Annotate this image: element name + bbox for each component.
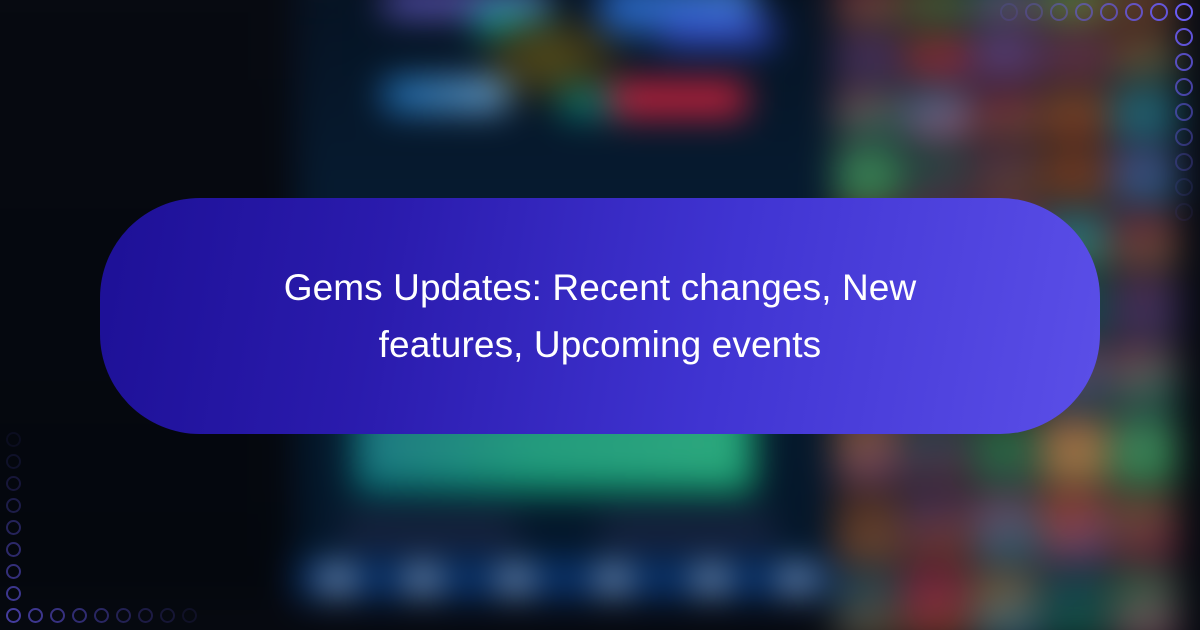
decor-dot (6, 564, 21, 579)
background-nav-icon (409, 567, 436, 592)
background-thumbnail (835, 148, 901, 203)
background-thumbnail (1111, 493, 1177, 563)
decor-dot (94, 608, 109, 623)
background-thumbnail (904, 32, 970, 80)
poster-canvas: Gems Updates: Recent changes, New featur… (0, 0, 1200, 630)
decor-dot (1050, 3, 1068, 21)
background-thumbnail (835, 0, 901, 24)
decor-dot (1175, 153, 1193, 171)
page-title: Gems Updates: Recent changes, New featur… (284, 259, 917, 373)
background-nav-icon (600, 567, 627, 592)
background-thumbnail (973, 32, 1039, 80)
decor-dot (1175, 128, 1193, 146)
decor-dot (1175, 178, 1193, 196)
decor-dot (1125, 3, 1143, 21)
decor-dot (6, 542, 21, 557)
background-thumbnail (1042, 148, 1108, 203)
decor-dot (6, 608, 21, 623)
decor-dot (6, 520, 21, 535)
background-thumbnail (1111, 277, 1177, 338)
background-widget-dark-button (343, 514, 518, 549)
decor-dot (1175, 28, 1193, 46)
decor-dot (6, 586, 21, 601)
decor-dot (1175, 53, 1193, 71)
background-thumbnail (904, 493, 970, 563)
background-thumbnail (1111, 346, 1177, 410)
background-thumbnail (835, 32, 901, 80)
background-thumbnail (1111, 571, 1177, 630)
decor-dot (6, 476, 21, 491)
background-nav-icon (502, 567, 529, 592)
decor-dot (182, 608, 197, 623)
background-thumbnail (835, 88, 901, 139)
background-widget-dark-button (600, 514, 775, 549)
background-thumbnail (1111, 88, 1177, 139)
decor-dot (72, 608, 87, 623)
background-thumbnail (1111, 32, 1177, 80)
decor-dot (1150, 3, 1168, 21)
decor-dot (1075, 3, 1093, 21)
decor-dot (50, 608, 65, 623)
background-thumbnail (904, 148, 970, 203)
background-nav-icon (324, 567, 351, 592)
decor-dot (6, 454, 21, 469)
background-thumbnail (1042, 32, 1108, 80)
background-bottom-navbar (296, 559, 832, 598)
background-thumbnail (1042, 418, 1108, 485)
decor-dot (138, 608, 153, 623)
decor-dot (160, 608, 175, 623)
background-thumbnail (1111, 418, 1177, 485)
decor-dot (28, 608, 43, 623)
background-thumbnail (904, 0, 970, 24)
background-thumbnail (835, 571, 901, 630)
background-thumbnail (1042, 88, 1108, 139)
background-thumbnail (973, 148, 1039, 203)
background-thumbnail (904, 571, 970, 630)
background-thumbnail (973, 88, 1039, 139)
background-thumbnail (1111, 211, 1177, 269)
background-widget-blue-strip (662, 17, 775, 48)
background-thumbnail (1111, 148, 1177, 203)
background-nav-icon (698, 567, 725, 592)
title-card: Gems Updates: Recent changes, New featur… (100, 198, 1100, 434)
background-thumbnail (973, 571, 1039, 630)
background-widget-sky-bar (384, 79, 508, 110)
background-thumbnail (1042, 571, 1108, 630)
decor-dot (1175, 103, 1193, 121)
decor-dot (1175, 3, 1193, 21)
background-widget-table-row (365, 442, 736, 469)
background-thumbnail (835, 493, 901, 563)
decor-dot (1100, 3, 1118, 21)
decor-dot (116, 608, 131, 623)
decor-dot (1025, 3, 1043, 21)
decor-dot (6, 498, 21, 513)
decor-dot (1175, 78, 1193, 96)
decor-dot (1000, 3, 1018, 21)
decor-dot (1175, 203, 1193, 221)
background-widget-red-button (610, 81, 746, 116)
background-nav-icon (783, 567, 810, 592)
background-thumbnail (1042, 493, 1108, 563)
decor-dot (6, 432, 21, 447)
background-thumbnail (973, 493, 1039, 563)
background-thumbnail (904, 88, 970, 139)
